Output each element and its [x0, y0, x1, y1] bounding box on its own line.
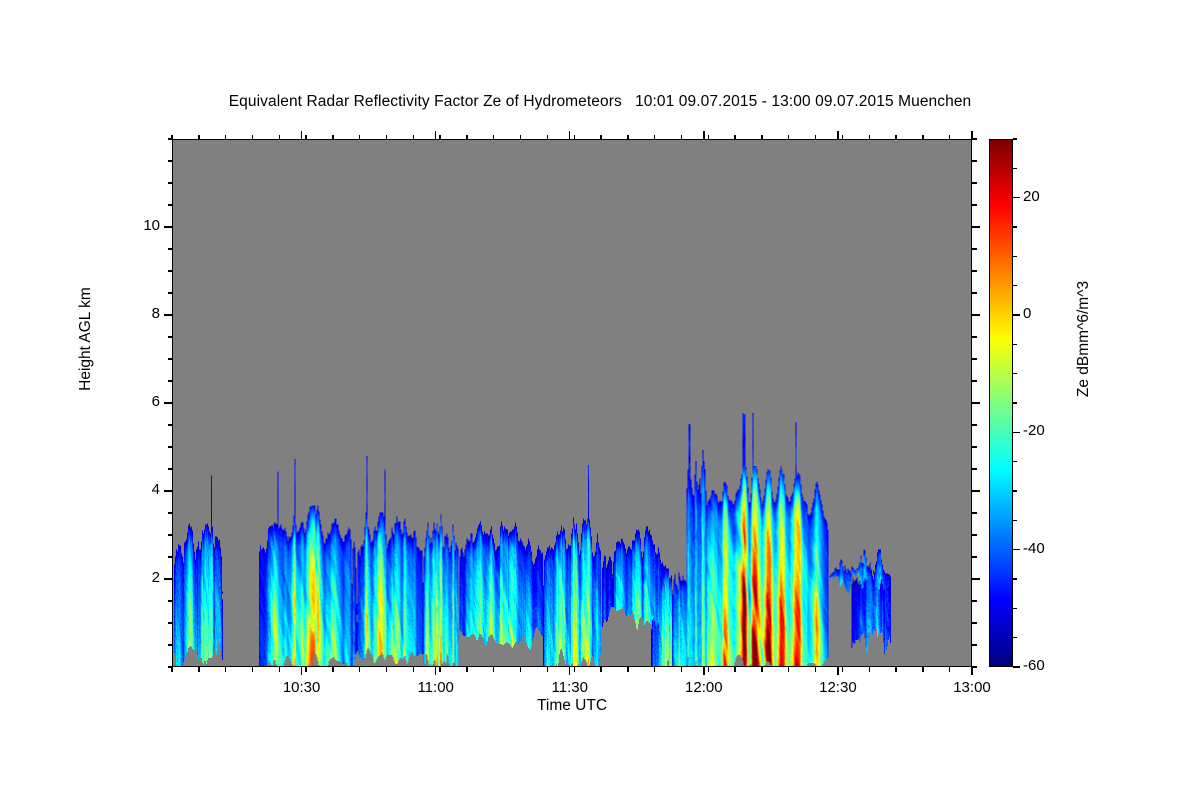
x-tick-minor [305, 667, 306, 672]
y-tick-major-right [972, 402, 980, 403]
y-tick-major-right [972, 226, 980, 227]
y-tick-minor-right [972, 556, 977, 557]
x-tick-minor-top [413, 135, 414, 140]
x-tick-minor [895, 667, 896, 672]
x-tick-minor [708, 667, 709, 672]
y-tick-minor-right [972, 336, 977, 337]
x-tick-minor-top [359, 135, 360, 140]
y-tick-minor [168, 138, 173, 139]
x-tick-major [569, 667, 570, 675]
x-tick-minor-top [815, 135, 816, 140]
y-tick-minor [168, 600, 173, 601]
y-tick-major [164, 402, 172, 403]
x-tick-minor-top [869, 135, 870, 140]
y-tick-minor [168, 512, 173, 513]
colorbar-tick-minor [1013, 344, 1017, 345]
x-tick-minor-top [252, 135, 253, 140]
x-tick-minor [359, 667, 360, 672]
x-tick-label: 13:00 [927, 679, 1017, 696]
colorbar [989, 139, 1013, 667]
y-tick-minor-right [972, 622, 977, 623]
y-tick-minor [168, 358, 173, 359]
x-tick-minor [949, 667, 950, 672]
x-tick-major [971, 667, 972, 675]
y-tick-major-right [972, 578, 980, 579]
x-tick-major-top [301, 131, 302, 139]
x-axis-title: Time UTC [172, 697, 972, 715]
colorbar-tick-minor [1013, 402, 1017, 403]
colorbar-tick [1013, 314, 1020, 315]
x-tick-minor [788, 667, 789, 672]
x-tick-minor-top [386, 135, 387, 140]
y-tick-minor-right [972, 512, 977, 513]
y-tick-minor-right [972, 644, 977, 645]
y-tick-label: 4 [112, 481, 160, 498]
colorbar-tick-minor [1013, 373, 1017, 374]
x-tick-label: 12:30 [793, 679, 883, 696]
x-tick-minor-top [493, 135, 494, 140]
x-tick-minor [493, 667, 494, 672]
x-tick-label: 11:30 [525, 679, 615, 696]
radar-reflectivity-heatmap [173, 140, 971, 666]
page-title: Equivalent Radar Reflectivity Factor Ze … [0, 93, 1200, 111]
y-tick-minor [168, 424, 173, 425]
colorbar-tick-minor [1013, 168, 1017, 169]
x-tick-minor [279, 667, 280, 672]
colorbar-tick-minor [1013, 520, 1017, 521]
colorbar-tick-minor [1013, 461, 1017, 462]
y-tick-minor-right [972, 292, 977, 293]
x-tick-minor-top [627, 135, 628, 140]
y-tick-major [164, 226, 172, 227]
x-tick-label: 11:00 [391, 679, 481, 696]
x-tick-minor [466, 667, 467, 672]
plot-area [172, 139, 972, 667]
x-tick-minor-top [600, 135, 601, 140]
y-tick-major [164, 578, 172, 579]
colorbar-tick-minor [1013, 226, 1017, 227]
x-tick-minor [922, 667, 923, 672]
y-tick-minor [168, 160, 173, 161]
y-tick-major [164, 314, 172, 315]
x-tick-minor-top [305, 135, 306, 140]
colorbar-tick-minor [1013, 138, 1017, 139]
colorbar-tick-minor [1013, 256, 1017, 257]
colorbar-tick [1013, 666, 1020, 667]
y-tick-minor-right [972, 534, 977, 535]
y-tick-minor-right [972, 138, 977, 139]
y-tick-minor [168, 666, 173, 667]
y-tick-label: 8 [112, 305, 160, 322]
y-tick-minor-right [972, 358, 977, 359]
x-tick-major [301, 667, 302, 675]
colorbar-tick-label: -60 [1023, 657, 1045, 674]
x-tick-minor-top [547, 135, 548, 140]
x-tick-minor-top [949, 135, 950, 140]
x-tick-minor-top [895, 135, 896, 140]
x-tick-minor [413, 667, 414, 672]
x-tick-minor [252, 667, 253, 672]
colorbar-tick-minor [1013, 285, 1017, 286]
x-tick-minor-top [332, 135, 333, 140]
x-tick-minor [869, 667, 870, 672]
y-tick-minor [168, 622, 173, 623]
x-tick-minor [225, 667, 226, 672]
x-tick-minor [654, 667, 655, 672]
x-tick-minor-top [761, 135, 762, 140]
x-tick-minor [815, 667, 816, 672]
x-tick-minor-top [198, 135, 199, 140]
x-tick-minor [734, 667, 735, 672]
radar-figure: Equivalent Radar Reflectivity Factor Ze … [0, 0, 1200, 800]
colorbar-tick-label: -40 [1023, 540, 1045, 557]
y-tick-minor-right [972, 446, 977, 447]
x-tick-minor-top [439, 135, 440, 140]
colorbar-tick-minor [1013, 637, 1017, 638]
y-tick-minor-right [972, 160, 977, 161]
colorbar-title: Ze dBmm^6/m^3 [1075, 219, 1093, 459]
colorbar-tick-label: 20 [1023, 188, 1040, 205]
x-tick-minor [547, 667, 548, 672]
y-tick-minor [168, 534, 173, 535]
x-tick-minor-top [734, 135, 735, 140]
x-tick-minor [842, 667, 843, 672]
y-tick-minor-right [972, 666, 977, 667]
x-tick-minor-top [654, 135, 655, 140]
x-tick-minor [332, 667, 333, 672]
x-tick-minor [761, 667, 762, 672]
x-tick-major-top [569, 131, 570, 139]
x-tick-minor [681, 667, 682, 672]
colorbar-tick-label: -20 [1023, 422, 1045, 439]
x-tick-major [837, 667, 838, 675]
x-tick-minor-top [466, 135, 467, 140]
x-tick-major-top [837, 131, 838, 139]
colorbar-tick-minor [1013, 490, 1017, 491]
x-tick-minor-top [842, 135, 843, 140]
x-tick-minor [386, 667, 387, 672]
y-tick-major-right [972, 314, 980, 315]
y-tick-minor [168, 204, 173, 205]
colorbar-tick-label: 0 [1023, 305, 1031, 322]
x-tick-label: 10:30 [257, 679, 347, 696]
y-tick-minor [168, 336, 173, 337]
x-tick-minor-top [279, 135, 280, 140]
y-tick-minor [168, 468, 173, 469]
colorbar-tick-minor [1013, 578, 1017, 579]
x-tick-major [435, 667, 436, 675]
y-tick-minor-right [972, 248, 977, 249]
x-tick-minor-top [788, 135, 789, 140]
y-tick-minor [168, 182, 173, 183]
y-tick-minor [168, 644, 173, 645]
x-tick-major [703, 667, 704, 675]
y-tick-major [164, 490, 172, 491]
x-tick-minor [574, 667, 575, 672]
x-tick-minor [627, 667, 628, 672]
y-tick-minor-right [972, 468, 977, 469]
x-tick-minor [520, 667, 521, 672]
colorbar-tick [1013, 432, 1020, 433]
y-tick-minor [168, 248, 173, 249]
x-tick-minor-top [520, 135, 521, 140]
y-tick-minor-right [972, 204, 977, 205]
x-tick-minor-top [681, 135, 682, 140]
y-tick-minor-right [972, 270, 977, 271]
y-tick-minor-right [972, 182, 977, 183]
y-tick-minor-right [972, 424, 977, 425]
colorbar-tick-minor [1013, 608, 1017, 609]
x-tick-minor [198, 667, 199, 672]
y-tick-minor [168, 380, 173, 381]
colorbar-tick [1013, 197, 1020, 198]
y-axis-title: Height AGL km [77, 229, 95, 449]
y-tick-label: 2 [112, 569, 160, 586]
x-tick-label: 12:00 [659, 679, 749, 696]
y-tick-label: 10 [112, 217, 160, 234]
x-tick-minor-top [574, 135, 575, 140]
y-tick-minor-right [972, 600, 977, 601]
colorbar-tick [1013, 549, 1020, 550]
y-tick-minor [168, 292, 173, 293]
x-tick-minor-top [708, 135, 709, 140]
x-tick-minor [600, 667, 601, 672]
y-tick-minor-right [972, 380, 977, 381]
y-tick-minor [168, 446, 173, 447]
x-tick-minor-top [225, 135, 226, 140]
y-tick-major-right [972, 490, 980, 491]
x-tick-minor [439, 667, 440, 672]
x-tick-major-top [703, 131, 704, 139]
x-tick-major-top [435, 131, 436, 139]
y-tick-label: 6 [112, 393, 160, 410]
x-tick-minor-top [922, 135, 923, 140]
colorbar-gradient [990, 140, 1012, 666]
y-tick-minor [168, 556, 173, 557]
y-tick-minor [168, 270, 173, 271]
